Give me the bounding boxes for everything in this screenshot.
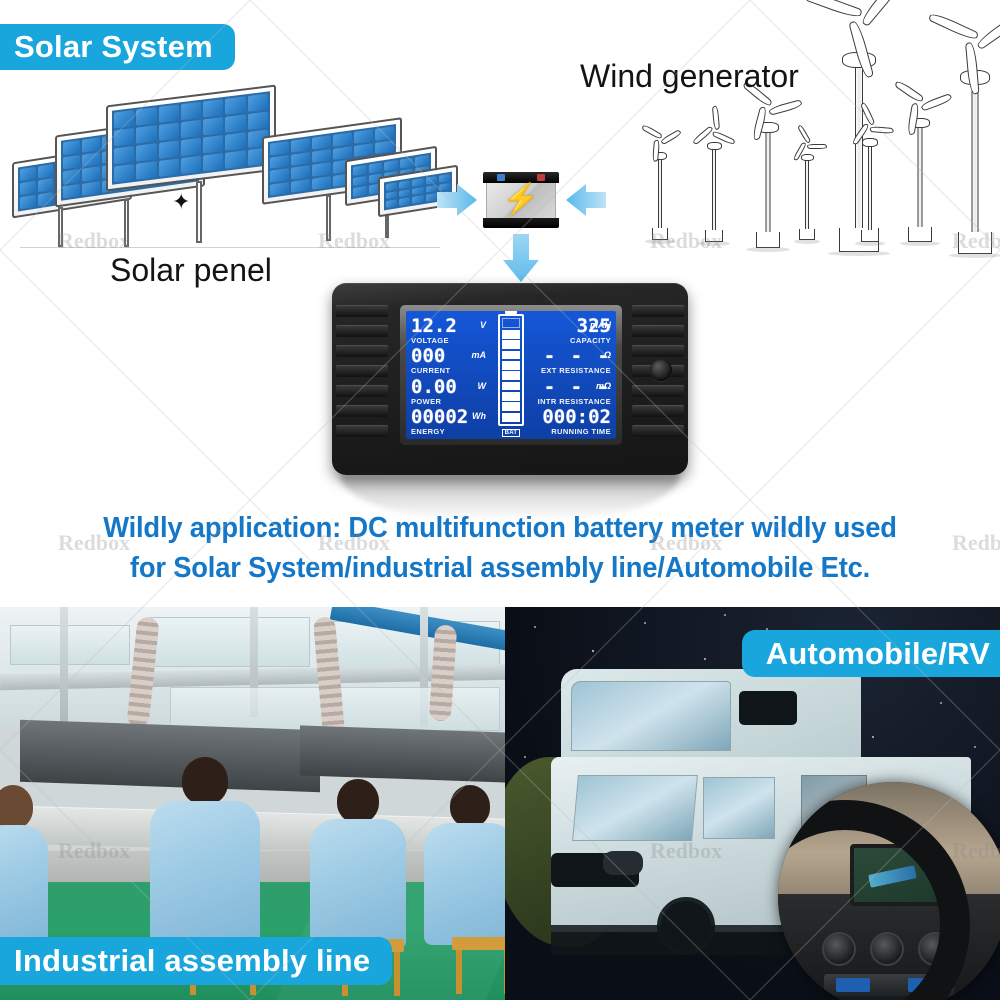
voltage-readout: 12.2 V VOLTAGE (411, 317, 486, 346)
capacity-unit: mAH (590, 320, 611, 330)
device-button-icon[interactable] (650, 359, 672, 381)
intr-resistance-caption: INTR RESISTANCE (536, 397, 611, 406)
watermark-text: Redbox (58, 228, 130, 254)
factory-worker (0, 785, 48, 945)
solar-panel-main (106, 85, 276, 192)
watermark-text: Redbox (650, 530, 722, 556)
battery-negative-terminal (497, 174, 505, 181)
rv-door-window (703, 777, 775, 839)
ext-resistance-value: - - - (536, 347, 611, 366)
current-unit: mA (471, 350, 486, 360)
capacity-readout: 325 mAH CAPACITY (536, 317, 611, 346)
ext-resistance-unit: Ω (604, 350, 611, 360)
device-grille-left (336, 305, 388, 455)
rv-windshield (572, 775, 698, 841)
current-caption: CURRENT (411, 366, 486, 375)
wind-turbine (848, 126, 892, 242)
badge-automobile-rv: Automobile/RV (742, 630, 1000, 677)
ext-resistance-caption: EXT RESISTANCE (536, 366, 611, 375)
watermark-text: Redbox (318, 530, 390, 556)
running-time-caption: RUNNING TIME (536, 427, 611, 436)
arrow-left-icon (566, 183, 606, 217)
badge-industrial-assembly-line: Industrial assembly line (0, 937, 392, 985)
factory-worker (424, 785, 505, 945)
lcd-bezel: 12.2 V VOLTAGE 000 mA CURRENT 0.00 (400, 305, 622, 445)
battery-level-gauge (498, 314, 524, 426)
wind-generator-label: Wind generator (580, 58, 799, 95)
power-readout: 0.00 W POWER (411, 378, 486, 407)
battery-gauge-column: BAT (491, 311, 531, 439)
running-time-value: 000:02 (536, 408, 611, 427)
spark-icon: ✦ (172, 191, 190, 213)
voltage-caption: VOLTAGE (411, 336, 486, 345)
wind-turbine-large (938, 42, 1000, 254)
badge-solar-system: Solar System (0, 24, 235, 70)
stool (452, 937, 505, 950)
watermark-text: Redbox (318, 228, 390, 254)
watermark-text: Redbox (952, 228, 1000, 254)
watermark-text: Redbox (952, 530, 1000, 556)
car-dashboard-inset (778, 782, 1000, 1000)
factory-worker (150, 757, 260, 947)
watermark-text: Redbox (650, 838, 722, 864)
intr-resistance-unit: mΩ (596, 381, 611, 391)
energy-caption: ENERGY (411, 427, 486, 436)
lightning-bolt-icon: ⚡ (502, 185, 539, 215)
rv-overcab-window (571, 681, 731, 751)
lcd-right-column: 325 mAH CAPACITY - - - Ω EXT RESISTANCE … (531, 311, 616, 439)
solar-panel-post (196, 181, 202, 243)
voltage-value: 12.2 (411, 317, 486, 336)
badge-industrial-label: Industrial assembly line (14, 943, 370, 979)
wind-turbine (640, 140, 680, 240)
product-infographic: ✦ (0, 0, 1000, 1000)
arrow-down-icon (501, 234, 541, 282)
rv-vent-window (739, 691, 797, 725)
battery-icon: ⚡ (483, 172, 559, 228)
battery-gauge-label: BAT (502, 429, 521, 437)
current-readout: 000 mA CURRENT (411, 347, 486, 376)
battery-positive-terminal (537, 174, 545, 181)
power-caption: POWER (411, 397, 486, 406)
capacity-caption: CAPACITY (536, 336, 611, 345)
watermark-text: Redbox (58, 530, 130, 556)
running-time-readout: 000:02 RUNNING TIME (536, 408, 611, 437)
ext-resistance-readout: - - - Ω EXT RESISTANCE (536, 347, 611, 376)
work-hood (300, 725, 505, 782)
caption-block: Wildly application: DC multifunction bat… (20, 508, 980, 589)
battery-meter-device: 12.2 V VOLTAGE 000 mA CURRENT 0.00 (332, 283, 688, 475)
solar-panel-label: Solar penel (110, 252, 272, 289)
lcd-screen: 12.2 V VOLTAGE 000 mA CURRENT 0.00 (406, 311, 616, 439)
arrow-right-icon (437, 183, 477, 217)
rv-headlight (603, 851, 643, 875)
factory-worker (310, 779, 406, 949)
energy-readout: 00002 Wh ENERGY (411, 408, 486, 437)
voltage-unit: V (480, 320, 486, 330)
caption-line-2: for Solar System/industrial assembly lin… (20, 548, 980, 588)
intr-resistance-readout: - - - mΩ INTR RESISTANCE (536, 378, 611, 407)
watermark-text: Redbox (58, 838, 130, 864)
watermark-text: Redbox (952, 838, 1000, 864)
watermark-text: Redbox (650, 228, 722, 254)
power-value: 0.00 (411, 378, 486, 397)
illustration-area: ✦ (0, 0, 1000, 607)
badge-solar-system-label: Solar System (14, 29, 213, 65)
badge-automobile-label: Automobile/RV (766, 636, 990, 672)
energy-unit: Wh (472, 411, 486, 421)
power-unit: W (478, 381, 487, 391)
lcd-left-column: 12.2 V VOLTAGE 000 mA CURRENT 0.00 (406, 311, 491, 439)
caption-line-1: Wildly application: DC multifunction bat… (20, 508, 980, 548)
wind-turbine (692, 130, 736, 242)
